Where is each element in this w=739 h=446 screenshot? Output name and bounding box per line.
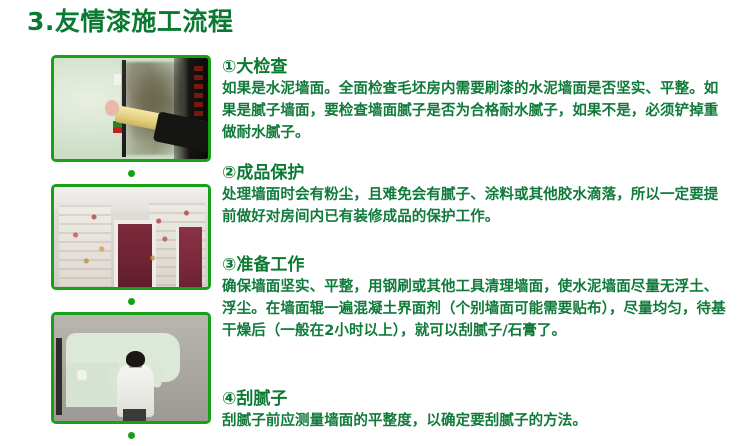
connector-2 xyxy=(51,290,211,312)
step-4: ④刮腻子 刮腻子前应测量墙面的平整度，以确定要刮腻子的方法。 xyxy=(222,388,587,432)
step-2-body: 处理墙面时会有粉尘，且难免会有腻子、涂料或其他胶水滴落，所以一定要提前做好对房间… xyxy=(222,184,732,228)
step-2: ②成品保护 处理墙面时会有粉尘，且难免会有腻子、涂料或其他胶水滴落，所以一定要提… xyxy=(222,162,732,228)
step-1-body: 如果是水泥墙面。全面检查毛坯房内需要刷漆的水泥墙面是否坚实、平整。如果是腻子墙面… xyxy=(222,78,732,144)
connector-dot-icon xyxy=(128,170,135,177)
photo-frame-inspection xyxy=(51,55,211,162)
wall-corner-shadow-graphic xyxy=(56,338,62,414)
page-title: 3.友情漆施工流程 xyxy=(27,6,233,38)
connector-3 xyxy=(51,424,211,446)
photo-frame-preparation xyxy=(51,312,211,424)
step-1: ①大检查 如果是水泥墙面。全面检查毛坯房内需要刷漆的水泥墙面是否坚实、平整。如果… xyxy=(222,56,732,144)
photo-protection xyxy=(54,187,208,287)
ruler-marker-graphic xyxy=(114,74,121,85)
page-root: 3.友情漆施工流程 xyxy=(0,0,739,433)
wall-spot-graphic xyxy=(77,370,87,380)
step-3: ③准备工作 确保墙面坚实、平整，用钢刷或其他工具清理墙面，使水泥墙面尽量无浮土、… xyxy=(222,254,732,342)
connector-dot-icon xyxy=(128,298,135,305)
photo-column xyxy=(51,55,211,446)
step-1-heading: ①大检查 xyxy=(222,56,732,78)
connector-1 xyxy=(51,162,211,184)
worker-head-graphic xyxy=(126,351,144,367)
step-3-body: 确保墙面坚实、平整，用钢刷或其他工具清理墙面，使水泥墙面尽量无浮土、浮尘。在墙面… xyxy=(222,276,732,342)
step-4-body: 刮腻子前应测量墙面的平整度，以确定要刮腻子的方法。 xyxy=(222,410,587,432)
hand-graphic xyxy=(105,100,119,116)
photo-inspection xyxy=(54,58,208,159)
step-2-heading: ②成品保护 xyxy=(222,162,732,184)
step-4-heading: ④刮腻子 xyxy=(222,388,587,410)
worker-legs-graphic xyxy=(123,409,146,421)
step-3-heading: ③准备工作 xyxy=(222,254,732,276)
newspaper-print-specks-graphic xyxy=(54,187,208,287)
photo-frame-protection xyxy=(51,184,211,290)
photo-preparation xyxy=(54,315,208,421)
